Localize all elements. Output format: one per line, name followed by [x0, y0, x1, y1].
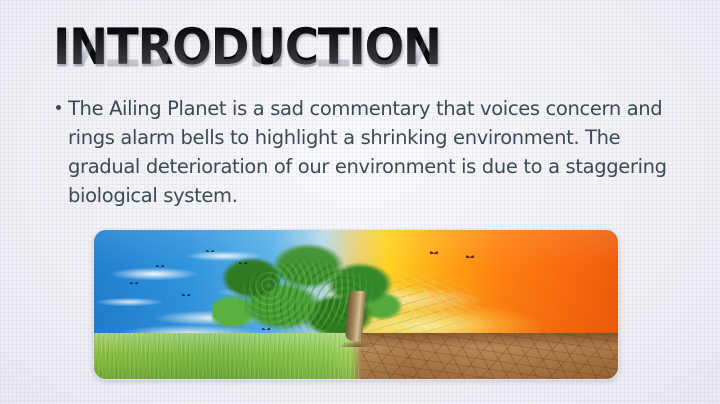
split-tree-photo — [93, 229, 619, 380]
cracked-earth-texture — [361, 333, 618, 379]
bird-5-icon — [130, 280, 138, 284]
presentation-slide: INTRODUCTION INTRODUCTION The Ailing Pla… — [0, 0, 720, 404]
bird-6-icon — [262, 326, 270, 330]
bullet-marker-icon — [56, 105, 61, 110]
title-area: INTRODUCTION INTRODUCTION — [53, 22, 673, 92]
bird-3-icon — [239, 260, 247, 264]
bullet-list-item: The Ailing Planet is a sad commentary th… — [55, 94, 680, 210]
body-text-area: The Ailing Planet is a sad commentary th… — [55, 94, 680, 210]
page-title: INTRODUCTION — [53, 22, 441, 72]
bird-4-icon — [182, 292, 190, 296]
bird-8-icon — [466, 254, 474, 258]
bird-1-icon — [156, 263, 164, 267]
grass-texture — [94, 333, 361, 379]
bird-7-icon — [430, 250, 438, 254]
bird-2-icon — [206, 248, 214, 252]
bullet-item-text: The Ailing Planet is a sad commentary th… — [68, 94, 680, 210]
